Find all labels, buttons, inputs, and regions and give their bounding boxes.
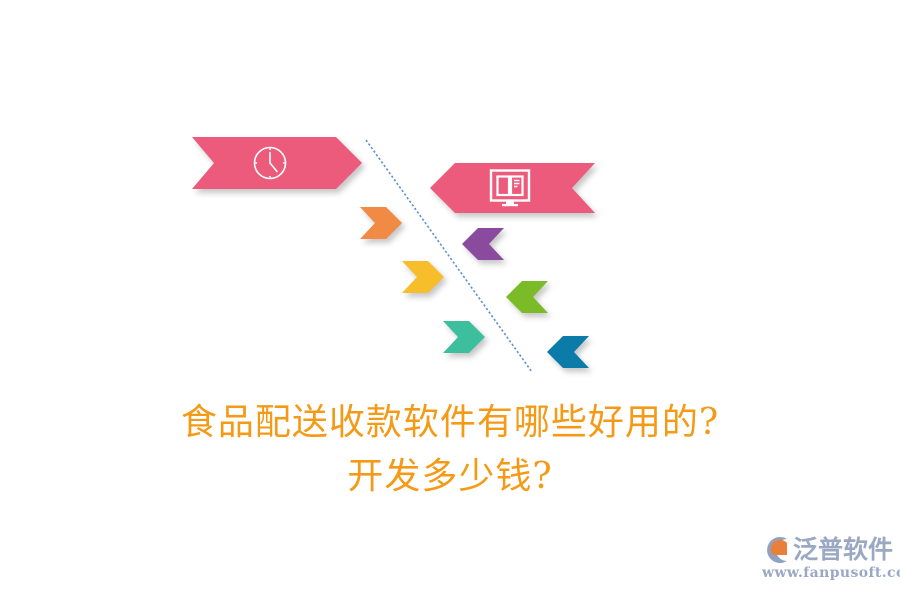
banner-clock — [192, 137, 362, 189]
watermark-brand-name: 泛普软件 — [793, 535, 893, 565]
watermark-logo: 泛普软件 www.fanpusoft.com — [762, 534, 894, 586]
fanpu-logo-mark-icon — [762, 535, 792, 565]
watermark-brand-row: 泛普软件 — [762, 534, 894, 566]
arrow-composition-graphic — [0, 0, 900, 390]
page-title-line-2: 开发多少钱? — [0, 450, 900, 504]
watermark-url: www.fanpusoft.com — [762, 565, 894, 581]
page-title-line-1: 食品配送收款软件有哪些好用的? — [0, 396, 900, 450]
chevron-orange — [360, 207, 402, 239]
chevron-green — [506, 281, 548, 313]
banner-book — [430, 163, 595, 213]
chevron-purple — [462, 228, 504, 260]
chevron-yellow — [402, 261, 444, 293]
chevron-blue — [547, 336, 589, 368]
chevron-teal — [443, 321, 485, 353]
page-title: 食品配送收款软件有哪些好用的? 开发多少钱? — [0, 396, 900, 504]
screenshot-canvas: 食品配送收款软件有哪些好用的? 开发多少钱? 泛普软件 www.fanpusof… — [0, 0, 900, 600]
